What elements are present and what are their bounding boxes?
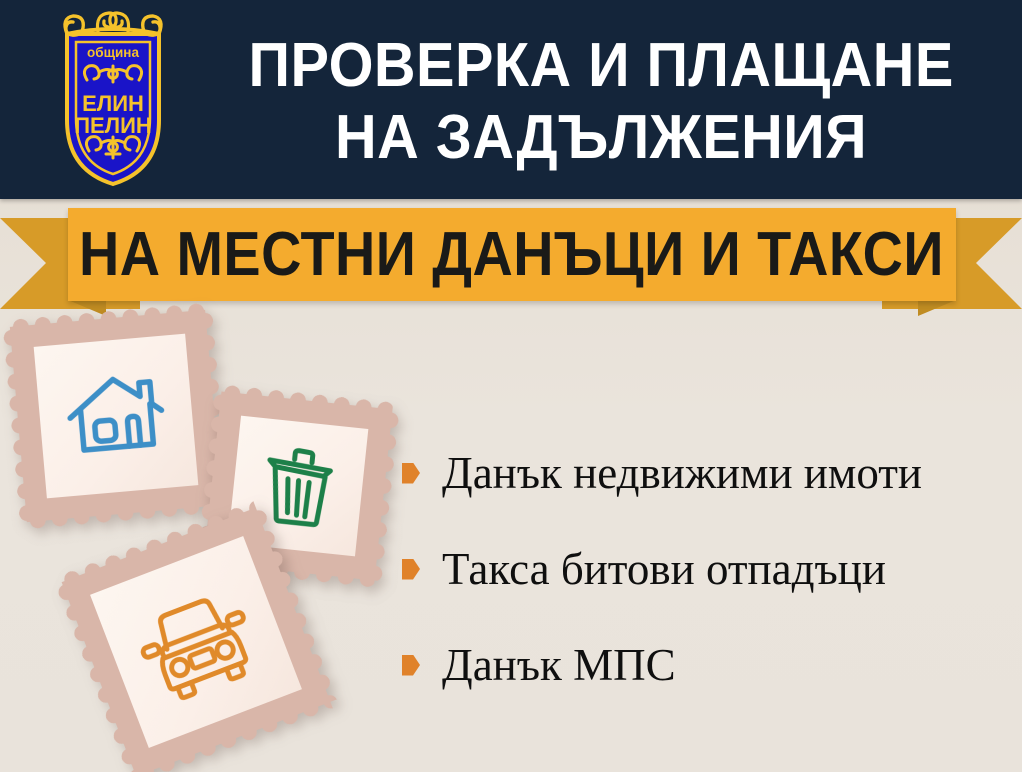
list-item[interactable]: Данък МПС bbox=[402, 617, 1014, 713]
crest-word-line2: ПЕЛИН bbox=[74, 113, 152, 138]
subtitle-ribbon: НА МЕСТНИ ДАНЪЦИ И ТАКСИ bbox=[0, 199, 1022, 309]
list-item-label: Данък МПС bbox=[442, 639, 676, 691]
stamp-real-estate bbox=[10, 310, 222, 522]
arrow-bullet-icon bbox=[402, 655, 420, 676]
crest-word-top: община bbox=[87, 45, 139, 60]
ribbon-panel: НА МЕСТНИ ДАНЪЦИ И ТАКСИ bbox=[68, 208, 956, 301]
title-line-2: НА ЗАДЪЛЖЕНИЯ bbox=[335, 102, 867, 174]
house-icon bbox=[34, 334, 199, 499]
list-item[interactable]: Данък недвижими имоти bbox=[402, 425, 1014, 521]
list-item-label: Такса битови отпадъци bbox=[442, 543, 886, 595]
poster-canvas: община ЕЛИН ПЕЛИН ПРОВЕРКА И ПЛАЩАНЕ НА … bbox=[0, 0, 1022, 772]
tax-types-list: Данък недвижими имоти Такса битови отпад… bbox=[402, 425, 1014, 713]
arrow-bullet-icon bbox=[402, 559, 420, 580]
stamp-paper bbox=[34, 334, 199, 499]
list-item-label: Данък недвижими имоти bbox=[442, 447, 922, 499]
arrow-bullet-icon bbox=[402, 463, 420, 484]
list-item[interactable]: Такса битови отпадъци bbox=[402, 521, 1014, 617]
municipality-crest: община ЕЛИН ПЕЛИН bbox=[43, 8, 183, 190]
title-line-1: ПРОВЕРКА И ПЛАЩАНЕ bbox=[248, 30, 953, 102]
header-bar: община ЕЛИН ПЕЛИН ПРОВЕРКА И ПЛАЩАНЕ НА … bbox=[0, 0, 1022, 199]
page-title: ПРОВЕРКА И ПЛАЩАНЕ НА ЗАДЪЛЖЕНИЯ bbox=[190, 14, 1012, 189]
ribbon-label: НА МЕСТНИ ДАНЪЦИ И ТАКСИ bbox=[80, 223, 945, 287]
